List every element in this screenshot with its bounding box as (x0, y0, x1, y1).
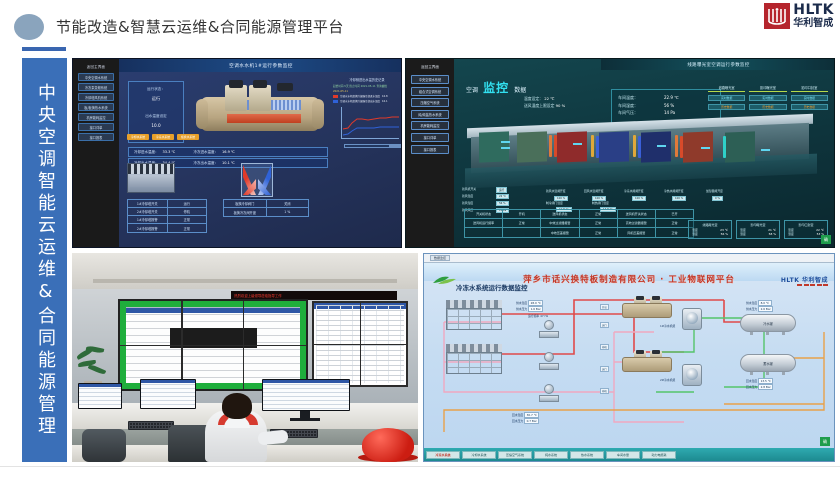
chart-title: 冷却侧进出水温历史记录 (333, 77, 401, 82)
workshop-duct-label-3: 冷热水阀阀开度 (664, 189, 684, 193)
chart-time-end-label: 终止时间 2021-05-11 (349, 85, 375, 88)
chiller-header-title: 空调水水机1#运行参数监控 (229, 63, 293, 69)
workshop-left-label-0: 新风机开关 (462, 187, 476, 191)
history-data-button-2[interactable]: 历史数据 (791, 104, 828, 110)
water-toolbar-button-4[interactable]: 热水系统 (570, 451, 604, 459)
room-card-0: 线路曝光室 温度 23 ℃ 湿度 56 % (688, 220, 732, 239)
readout-label-5: 供水压力 (746, 307, 757, 311)
state-chip-2: 停机 (600, 344, 609, 350)
workshop-room-cards: 线路曝光室 温度 23 ℃ 湿度 56 % 影印曝光室 温度 21 ℃ 湿度 5… (688, 220, 828, 239)
workshop-env-label-1: 车间湿度： (618, 102, 664, 110)
ws-cell-0-5: 已开 (656, 210, 693, 218)
room-tab-header-1[interactable]: 影印曝光室 (749, 85, 786, 92)
chiller-header-bar: 空调水水机1#运行参数监控 (119, 59, 402, 72)
pump-1 (536, 320, 562, 338)
workshop-duct-value-4: 0 % (712, 196, 723, 201)
chart-legend-value-0: 10.8 (382, 95, 388, 98)
water-tab-0[interactable]: 数据监控 (430, 255, 450, 261)
room-card-title-2: 影印口封室 (788, 223, 824, 227)
table-row: 开关机状态 开机 送风机状态 正常 送风机开关状态 已开 (465, 210, 693, 219)
water-toolbar-button-1[interactable]: 冷却水系统 (462, 451, 496, 459)
status-val-1: 停机 (168, 208, 207, 215)
storage-tank: 蓄水罐 (740, 354, 796, 372)
room-card-title-1: 影印曝光室 (740, 223, 776, 227)
valve-key-1: 板换冷冻阀开度 (224, 208, 267, 216)
chiller-valve-table: 板换冷却阀门 关闭 板换冷冻阀开度 1 % (223, 199, 309, 217)
chiller-menu-item-4[interactable]: 机房能耗监控 (78, 113, 114, 121)
workshop-sidebar[interactable]: 返回主界面 中央空调水系统 组合式空调系统 压缩空气系统 纯/纯盐热水系统 机房… (406, 59, 454, 247)
ws-cell-0-4: 送风机开关状态 (618, 210, 656, 218)
chart-query-button[interactable]: 查询曲线 (377, 85, 387, 88)
workshop-room-tabs[interactable]: 线路曝光室 影印曝光室 影印口封室 实时数据 实时数据 实时数据 历史数据 历史… (708, 85, 828, 110)
workshop-title-part1: 空调 (466, 87, 478, 94)
chiller-status-table: 1#冷却塔开关 运行 2#冷却塔开关 停机 1#冷却塔报警 正常 2#冷却塔报警… (127, 199, 207, 233)
status-key-3: 2#冷却塔报警 (128, 224, 168, 232)
panel-workshop-scada[interactable]: 返回主界面 中央空调水系统 组合式空调系统 压缩空气系统 纯/纯盐热水系统 机房… (405, 58, 835, 248)
workshop-duct2-label-0: 制冷阀门温度 (546, 201, 563, 205)
ws-cell-0-1: 开机 (503, 210, 541, 218)
valve-key-0: 板换冷却阀门 (224, 200, 267, 207)
workshop-left-label-1: 新风温度 (462, 194, 473, 198)
chiller-menu-item-0[interactable]: 中央空调水系统 (78, 73, 114, 81)
cooling-tower-graphic (127, 163, 175, 193)
workshop-setpoints: 温度设定： 22 ℃ 送风湿度上限设定 90 % (524, 95, 565, 109)
table-row: 1#冷却塔开关 运行 (128, 200, 206, 208)
ws-cell-1-0: 送风机运行频率 (465, 219, 503, 227)
vertical-banner: 中央空调智能云运维&合同能源管理 (22, 58, 67, 462)
chiller-menu-item-1[interactable]: 冷冻泵变频系统 (78, 83, 114, 91)
chart-date: 2021-05-11 (333, 90, 401, 93)
readout-label-6: 回水温度 (746, 379, 757, 383)
chiller-trend-chart: 冷却侧进出水温历史记录 起始时间-5天 终止时间 2021-05-11 查询曲线… (333, 77, 401, 157)
heat-exchanger-graphic (241, 163, 273, 197)
workshop-big-title: 空调 监控 数据 (466, 77, 526, 96)
ws-cell-2-1 (503, 228, 541, 237)
workshop-left-label-2: 新风湿度 (462, 201, 473, 205)
table-row: 中效压差报警 正常 风机压差报警 正常 (465, 228, 693, 237)
water-tabbar[interactable]: 数据监控 (424, 254, 834, 263)
workshop-menu-item-5[interactable]: 接口详单 (411, 133, 449, 142)
workshop-env-row-1: 车间湿度： 56 % (618, 102, 714, 110)
status-key-0: 1#冷却塔开关 (128, 200, 168, 207)
workshop-title-part3: 数据 (514, 87, 526, 94)
table-row: 板换冷却阀门 关闭 (224, 200, 308, 208)
water-titlebar: 萍乡市话兴换特板制造有限公司 · 工业物联网平台 HLTK 华利智成 (424, 263, 834, 281)
monitor (78, 383, 122, 409)
room-tab-header-2[interactable]: 影印口封室 (791, 85, 828, 92)
chiller-run-state-label: 运行状态： (129, 87, 183, 92)
monitor (262, 379, 350, 411)
readout-value-5: 2.6 Bar (758, 306, 773, 312)
chiller-tab-1[interactable]: 冷冻水系统 (152, 134, 174, 140)
readout-value-1: 1.6 Bar (528, 306, 543, 312)
ws-cell-2-2: 中效压差报警 (541, 228, 579, 237)
workshop-status-table: 开关机状态 开机 送风机状态 正常 送风机开关状态 已开 送风机运行频率 正常 … (464, 209, 694, 238)
workshop-sidebar-title: 返回主界面 (406, 65, 454, 70)
panel-chilled-water-scada[interactable]: 数据监控 萍乡市话兴换特板制造有限公司 · 工业物联网平台 HLTK 华利智成 … (423, 253, 835, 462)
realtime-data-button-2[interactable]: 实时数据 (791, 95, 828, 101)
status-val-2: 正常 (168, 216, 207, 223)
status-key-1: 2#冷却塔开关 (128, 208, 168, 215)
realtime-data-button-1[interactable]: 实时数据 (749, 95, 786, 101)
pump-3 (536, 384, 562, 402)
valve-val-0: 关闭 (267, 200, 309, 207)
readout-label-4: 供水温度 (746, 301, 757, 305)
keyboard (128, 421, 174, 430)
table-row: 板换冷冻阀开度 1 % (224, 208, 308, 216)
page-header: 节能改造&智慧云运维&合同能源管理平台 HLTK 华利智成 (0, 0, 840, 50)
workshop-duct-value-2: 100 % (632, 196, 646, 201)
logo-bars-icon (797, 284, 828, 286)
room-card-k-2-1: 湿度 (788, 232, 794, 236)
workshop-menu-item-3[interactable]: 纯/纯盐热水系统 (411, 110, 449, 119)
water-sub-title: 冷冻水系统运行数据监控 (456, 282, 528, 292)
water-toolbar-button-2[interactable]: 压缩空气系统 (498, 451, 532, 459)
workshop-env-value-0: 22.9 ℃ (664, 94, 679, 102)
chiller-setpoint-label: 出水温度设定 (129, 114, 183, 119)
safety-helmet (362, 428, 414, 462)
readout-1: 供水压力 1.6 Bar (516, 306, 543, 312)
workshop-env-label-0: 车间温度： (618, 94, 664, 102)
workshop-set-value-0: 22 ℃ (544, 96, 554, 101)
workshop-duct-label-2: 冷冻水阀阀开度 (624, 189, 644, 193)
chiller-unit-2 (620, 350, 674, 374)
panel-control-room-photo: 热烈欢迎上级领导莅临指导工作 (72, 253, 418, 462)
ws-cell-2-0 (465, 228, 503, 237)
workshop-menu-item-2[interactable]: 压缩空气系统 (411, 98, 449, 107)
workshop-set-label-1: 送风湿度上限设定 (524, 103, 554, 108)
header-accent-rule (22, 47, 66, 51)
workshop-title-part2: 监控 (483, 81, 509, 95)
status-val-0: 运行 (168, 200, 207, 207)
chart-legend-value-1: 10.1 (382, 100, 388, 103)
ahu-1 (682, 308, 702, 330)
chiller-sidebar-title: 返回主界面 (73, 64, 119, 69)
ws-cell-0-2: 送风机状态 (541, 210, 579, 218)
header-bullet-icon (14, 14, 44, 40)
workshop-menu-item-6[interactable]: 接口报表 (411, 145, 449, 154)
chiller-temp-value2-1: 10.1 ℃ (218, 161, 235, 165)
ahu-2 (682, 364, 702, 386)
chiller-temp-row-0: 冷却进水温度： 33.3 ℃ 冷冻进水温度： 16.9 ℃ (128, 147, 328, 157)
workshop-env-row-0: 车间温度： 22.9 ℃ (618, 94, 714, 102)
room-card-1: 影印曝光室 温度 21 ℃ 湿度 58 % (736, 220, 780, 239)
state-chip-3: 运行 (600, 366, 609, 372)
workshop-duct-label-0: 新风水温阀开度 (546, 189, 566, 193)
equipment-label-5: 1#冷水机组 (660, 324, 675, 328)
room-card-k-1-1: 湿度 (740, 232, 746, 236)
room-card-title-0: 线路曝光室 (692, 223, 728, 227)
readout-label-2: 回水温度 (512, 413, 523, 417)
water-diagram: 冷水罐 蓄水罐 供水温度 28.0 ℃ 供水压力 1.6 Bar 回水温度 30… (424, 292, 834, 442)
room-card-v-1-1: 58 % (769, 232, 776, 236)
table-row: 2#冷却塔报警 正常 (128, 224, 206, 232)
state-chip-4: 停机 (600, 388, 609, 394)
chiller-menu-item-2[interactable]: 冷却塔风机系统 (78, 93, 114, 101)
equipment-label-6: 2#冷水机组 (660, 378, 675, 382)
chart-time-range[interactable]: 起始时间-5天 终止时间 2021-05-11 查询曲线 (333, 84, 401, 88)
readout-label-7: 回水压力 (746, 385, 757, 389)
chiller-menu-item-5[interactable]: 接口详单 (78, 123, 114, 131)
office-chair (82, 429, 126, 462)
led-banner-text: 热烈欢迎上级领导莅临指导工作 (231, 293, 281, 298)
logo-text-cn: 华利智成 (793, 19, 834, 29)
water-toolbar-button-5[interactable]: 车间水量 (606, 451, 640, 459)
water-confirm-button[interactable]: 确 (820, 437, 830, 446)
water-right-logo: HLTK 华利智成 (781, 275, 828, 284)
workshop-3d-graphic (461, 121, 819, 183)
video-wall (118, 299, 308, 391)
workshop-duct-value-3: 100 % (672, 196, 686, 201)
valve-val-1: 1 % (267, 208, 309, 216)
readout-5: 供水压力 2.6 Bar (746, 306, 773, 312)
room-card-v-0-1: 56 % (721, 232, 728, 236)
readout-label-1: 供水压力 (516, 307, 527, 311)
chiller-run-state-value: 运行 (129, 96, 183, 102)
water-toolbar-button-0[interactable]: 冷冻水系统 (426, 451, 460, 459)
chiller-setpoint-value: 10.0 (129, 123, 183, 128)
history-data-button-1[interactable]: 历史数据 (749, 104, 786, 110)
workshop-duct-label-1: 回风水温阀开度 (584, 189, 604, 193)
readout-value-7: 2.8 Bar (758, 384, 773, 390)
water-bottom-toolbar[interactable]: 冷冻水系统 冷却水系统 压缩空气系统 纯水系统 热水系统 车间水量 动力电能耗 (424, 448, 834, 461)
chart-plot-area (341, 107, 399, 139)
chiller-temp-value-0: 33.3 ℃ (159, 150, 189, 154)
workshop-left-value-1: 22 ℃ (496, 194, 509, 199)
state-chip-0: 开启 (600, 304, 609, 310)
table-row: 1#冷却塔报警 正常 (128, 216, 206, 224)
chiller-unit-1 (620, 296, 674, 320)
chiller-menu-item-3[interactable]: 板/板换热水系统 (78, 103, 114, 111)
water-toolbar-button-6[interactable]: 动力电能耗 (642, 451, 676, 459)
tank-label-1: 蓄水罐 (740, 354, 796, 372)
workshop-env-value-1: 56 % (664, 102, 674, 110)
footer-rule (0, 466, 840, 467)
workshop-set-label-0: 温度设定： (524, 96, 543, 101)
chiller-temp-label2-1: 冷冻出水温度： (189, 161, 219, 166)
workshop-set-value-1: 90 % (556, 103, 566, 108)
workshop-env-label-2: 车间气压： (618, 109, 664, 117)
ws-cell-1-4: 高效过滤器报警 (618, 219, 656, 227)
readout-7: 回水压力 2.8 Bar (746, 384, 773, 390)
workshop-menu-item-1[interactable]: 组合式空调系统 (411, 87, 449, 96)
cold-water-tank: 冷水罐 (740, 314, 796, 332)
tank-label-0: 冷水罐 (740, 314, 796, 332)
ws-cell-1-1: 正常 (503, 219, 541, 227)
state-chip-1: 运行 (600, 322, 609, 328)
chart-scrollbar-thumb[interactable] (389, 145, 402, 147)
chart-legend-label-1: 空调水水机组换冷凝器冷却出水温度 (340, 99, 380, 103)
workshop-confirm-button[interactable]: 确 (821, 235, 831, 244)
ws-cell-2-4: 风机压差报警 (618, 228, 656, 237)
workshop-duct-label-4: 加湿器阀开度 (706, 189, 723, 193)
chart-time-start-label: 起始时间-5天 (333, 85, 349, 88)
chiller-temp-value2-0: 16.9 ℃ (218, 150, 235, 154)
readout-label-0: 供水温度 (516, 301, 527, 305)
readout-value-3: 0.7 Bar (524, 418, 539, 424)
workshop-header-bar: 线路曝光室空调运行参数监控 (601, 59, 835, 70)
table-row: 2#冷却塔开关 停机 (128, 208, 206, 216)
status-key-2: 1#冷却塔报警 (128, 216, 168, 223)
chiller-tab-2[interactable]: 板换水系统 (177, 134, 199, 140)
monitor (140, 379, 196, 409)
readout-label-3: 回水压力 (512, 419, 523, 423)
history-data-button-0[interactable]: 历史数据 (708, 104, 745, 110)
room-tab-header-0[interactable]: 线路曝光室 (708, 85, 745, 92)
ws-cell-1-2: 中效过滤器报警 (541, 219, 579, 227)
chart-legend-label-0: 空调水水机组换冷凝器冷却进水温度 (340, 94, 380, 98)
ws-cell-0-0: 开关机状态 (465, 210, 503, 218)
vertical-banner-text: 中央空调智能云运维&合同能源管理 (35, 83, 54, 438)
logo-text-en: HLTK (793, 3, 834, 17)
company-logo: HLTK 华利智成 (764, 3, 834, 29)
video-wall-secondary (312, 301, 408, 387)
chiller-menu-item-6[interactable]: 接口报表 (78, 133, 114, 141)
workshop-duct2-label-1: 制热阀门温度 (592, 201, 609, 205)
chart-legend-1: 空调水水机组换冷凝器冷却出水温度 10.1 (333, 99, 401, 103)
cooling-tower-1 (446, 300, 502, 330)
ws-cell-1-3: 正常 (580, 219, 618, 227)
chart-scrollbar[interactable] (344, 144, 402, 148)
workshop-header-title: 线路曝光室空调运行参数监控 (687, 62, 749, 68)
workshop-menu-item-0[interactable]: 中央空调水系统 (411, 75, 449, 84)
logo-mark-icon (764, 3, 790, 29)
readout-3: 回水压力 0.7 Bar (512, 418, 539, 424)
pump-2 (536, 352, 562, 370)
water-toolbar-button-3[interactable]: 纯水系统 (534, 451, 568, 459)
panel-chiller-scada[interactable]: 返回主界面 中央空调水系统 冷冻泵变频系统 冷却塔风机系统 板/板换热水系统 机… (72, 58, 402, 248)
chiller-sidebar[interactable]: 返回主界面 中央空调水系统 冷冻泵变频系统 冷却塔风机系统 板/板换热水系统 机… (73, 59, 119, 247)
chart-legend-0: 空调水水机组换冷凝器冷却进水温度 10.8 (333, 94, 401, 98)
ws-cell-0-3: 正常 (580, 210, 618, 218)
chiller-tab-0[interactable]: 冷却水系统 (127, 134, 149, 140)
chiller-system-tabs[interactable]: 冷却水系统 冷冻水系统 板换水系统 (127, 134, 199, 140)
status-val-3: 正常 (168, 224, 207, 232)
chiller-unit-graphic (195, 79, 325, 141)
ws-cell-2-3: 正常 (580, 228, 618, 237)
workshop-left-value-0: 运行 (496, 187, 507, 193)
cooling-tower-2 (446, 344, 502, 374)
workshop-env-row-2: 车间气压： 14 Pa (618, 109, 714, 117)
page-title: 节能改造&智慧云运维&合同能源管理平台 (56, 16, 344, 37)
room-card-k-0-1: 湿度 (692, 232, 698, 236)
chiller-temp-label2-0: 冷冻进水温度： (189, 150, 219, 155)
chiller-temp-label-0: 冷却进水温度： (129, 150, 159, 155)
realtime-data-button-0[interactable]: 实时数据 (708, 95, 745, 101)
workshop-menu-item-4[interactable]: 机房能耗监控 (411, 121, 449, 130)
table-row: 送风机运行频率 正常 中效过滤器报警 正常 高效过滤器报警 正常 (465, 219, 693, 228)
workshop-env-value-2: 14 Pa (664, 109, 675, 117)
pump-freq-label: 运行频率 47 Hz (528, 314, 548, 318)
workshop-left-value-2: 56 % (496, 201, 509, 206)
